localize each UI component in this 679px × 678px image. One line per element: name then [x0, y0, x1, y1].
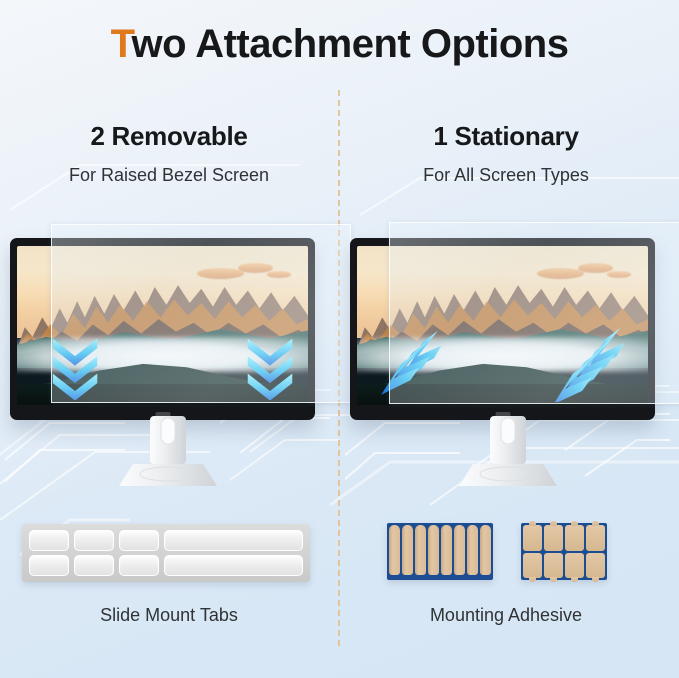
title-accent-letter: T [111, 22, 132, 66]
left-subheading: For Raised Bezel Screen [9, 165, 329, 186]
title-rest: wo Attachment Options [132, 22, 569, 66]
tab-chip [29, 530, 69, 551]
adhesive-pad [523, 553, 542, 579]
right-caption: Mounting Adhesive [346, 605, 666, 626]
adhesive-pad [586, 553, 605, 579]
adhesive-pad [544, 553, 563, 579]
right-subheading: For All Screen Types [346, 165, 666, 186]
left-column-header: 2 Removable For Raised Bezel Screen [9, 121, 329, 186]
tab-chip [119, 555, 159, 576]
adhesive-strip [428, 525, 439, 575]
tab-chip [119, 530, 159, 551]
slide-mount-tabs-product [22, 524, 310, 582]
adhesive-strip [454, 525, 465, 575]
right-heading: 1 Stationary [346, 121, 666, 152]
left-heading: 2 Removable [9, 121, 329, 152]
right-monitor-stand [453, 416, 563, 488]
tab-chip [74, 555, 114, 576]
adhesive-strip [402, 525, 413, 575]
adhesive-strip [389, 525, 400, 575]
adhesive-pad [565, 525, 584, 551]
adhesive-strip [467, 525, 478, 575]
tab-row [29, 530, 303, 551]
left-monitor-scene [5, 218, 330, 493]
wallpaper-foreground [357, 384, 648, 405]
column-divider [338, 90, 340, 646]
left-caption: Slide Mount Tabs [9, 605, 329, 626]
tab-chip [29, 555, 69, 576]
right-monitor-screen [357, 246, 648, 405]
adhesive-pad [523, 525, 542, 551]
page-title: Two Attachment Options [0, 22, 679, 67]
right-monitor [350, 238, 655, 420]
wallpaper-foreground [17, 384, 308, 405]
left-monitor [10, 238, 315, 420]
left-monitor-screen [17, 246, 308, 405]
adhesive-strip [415, 525, 426, 575]
infographic-canvas: Two Attachment Options 2 Removable For R… [0, 0, 679, 678]
left-monitor-stand [113, 416, 223, 488]
right-column-header: 1 Stationary For All Screen Types [346, 121, 666, 186]
adhesive-pad [565, 553, 584, 579]
adhesive-strip [480, 525, 491, 575]
adhesive-pad [586, 525, 605, 551]
tab-chip-long [164, 530, 303, 551]
right-monitor-scene [345, 218, 670, 493]
adhesive-strips-product [387, 523, 493, 580]
adhesive-pad [544, 525, 563, 551]
adhesive-strip [441, 525, 452, 575]
tab-chip [74, 530, 114, 551]
tab-row [29, 555, 303, 576]
adhesive-pads-product [521, 523, 607, 580]
tab-chip-long [164, 555, 303, 576]
